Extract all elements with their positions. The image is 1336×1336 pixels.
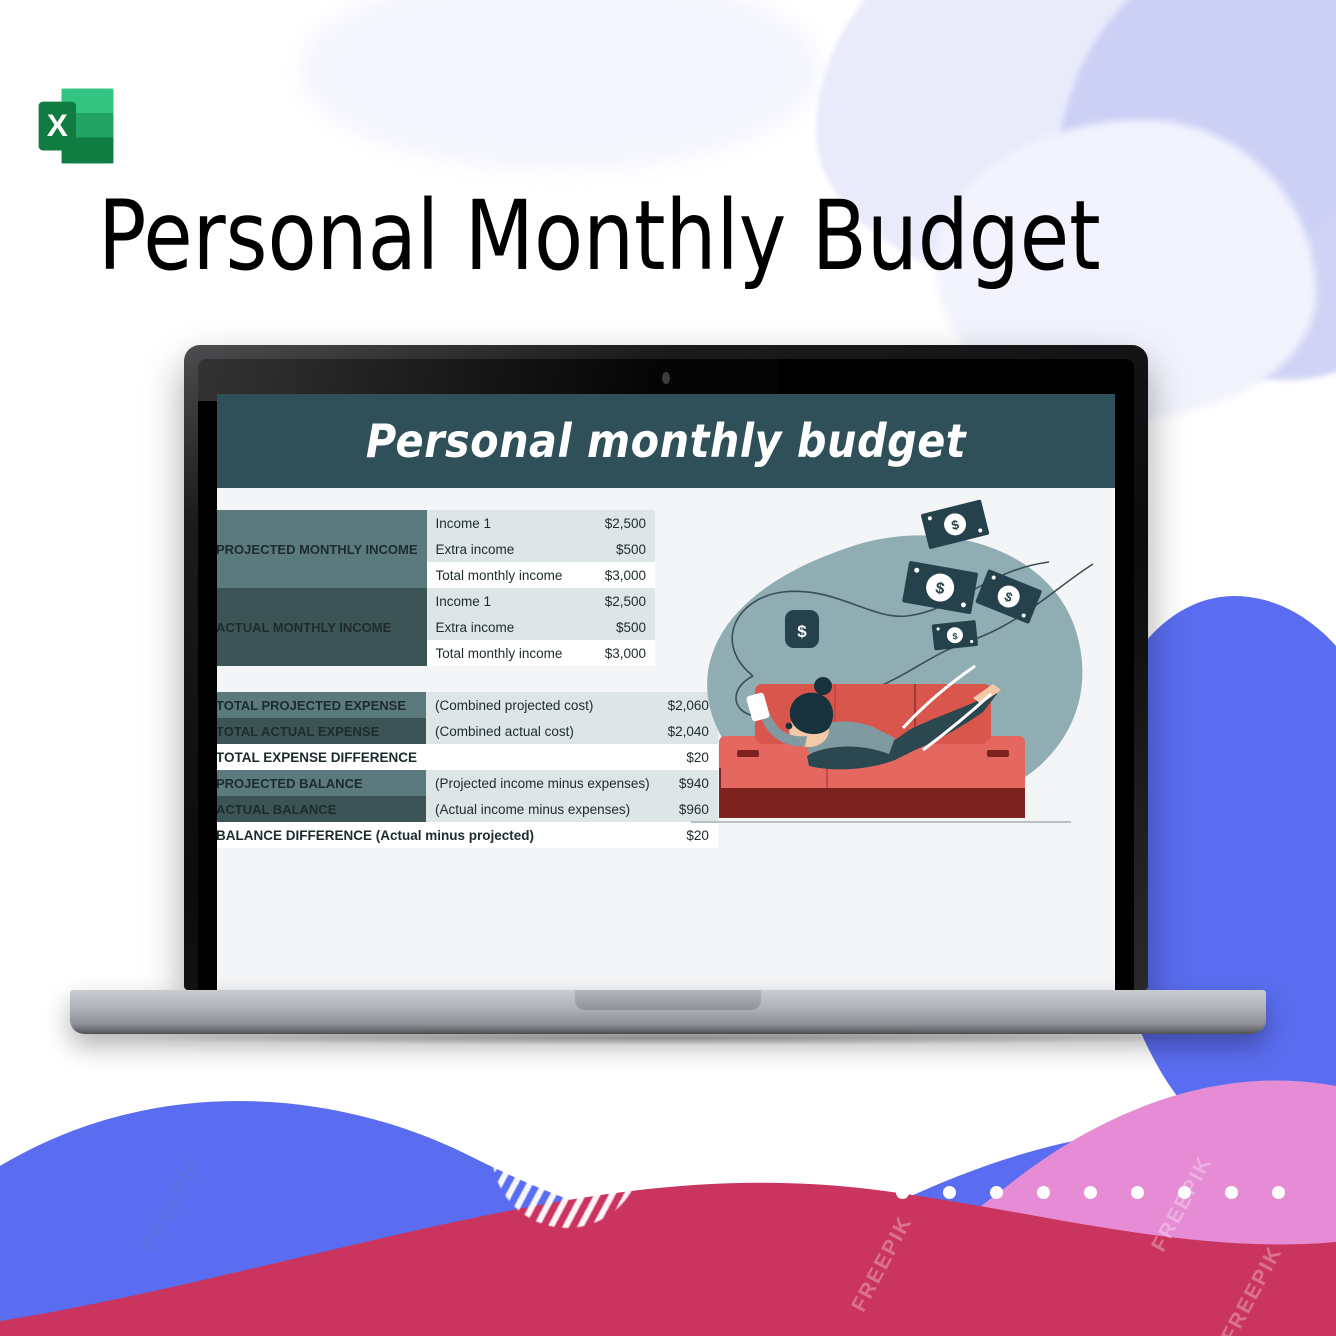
webcam-icon xyxy=(662,372,670,384)
summary-desc: (Combined projected cost) xyxy=(426,692,659,718)
table-row[interactable]: PROJECTED BALANCE (Projected income minu… xyxy=(217,770,718,796)
sheet-title: Personal monthly budget xyxy=(366,414,966,468)
income-table: PROJECTED MONTHLY INCOME Income 1 $2,500… xyxy=(217,510,655,692)
table-row[interactable]: ACTUAL BALANCE (Actual income minus expe… xyxy=(217,796,718,822)
table-row[interactable]: TOTAL EXPENSE DIFFERENCE $20 xyxy=(217,744,718,770)
lavender-blob-top xyxy=(300,0,820,170)
excel-icon: X xyxy=(30,80,122,172)
sheet-banner: Personal monthly budget xyxy=(217,394,1115,488)
svg-text:$: $ xyxy=(797,622,807,641)
laptop-screen: Personal monthly budget PROJECTED MONTHL… xyxy=(217,394,1115,990)
summary-table: TOTAL PROJECTED EXPENSE (Combined projec… xyxy=(217,692,718,848)
sheet-body: PROJECTED MONTHLY INCOME Income 1 $2,500… xyxy=(217,488,1115,990)
table-row[interactable]: TOTAL ACTUAL EXPENSE (Combined actual co… xyxy=(217,718,718,744)
laptop-mockup: Personal monthly budget PROJECTED MONTHL… xyxy=(0,345,1336,1045)
income-item: Income 1 xyxy=(427,588,589,614)
person-on-couch-with-money-illustration: $ $ xyxy=(657,488,1109,848)
projected-income-label: PROJECTED MONTHLY INCOME xyxy=(217,510,427,588)
illustration-pane: $ $ xyxy=(657,488,1109,848)
summary-label: TOTAL EXPENSE DIFFERENCE xyxy=(217,744,426,770)
summary-label: TOTAL PROJECTED EXPENSE xyxy=(217,692,426,718)
actual-income-label: ACTUAL MONTHLY INCOME xyxy=(217,588,427,666)
income-value: $500 xyxy=(589,614,655,640)
income-value: $2,500 xyxy=(589,588,655,614)
svg-text:X: X xyxy=(47,107,68,143)
budget-summary-pane: PROJECTED MONTHLY INCOME Income 1 $2,500… xyxy=(217,510,655,848)
table-row[interactable]: BALANCE DIFFERENCE (Actual minus project… xyxy=(217,822,718,848)
laptop-bezel: Personal monthly budget PROJECTED MONTHL… xyxy=(198,359,1134,990)
income-item: Extra income xyxy=(427,614,589,640)
svg-text:$: $ xyxy=(952,631,958,641)
summary-desc: (Projected income minus expenses) xyxy=(426,770,659,796)
page-title: Personal Monthly Budget xyxy=(98,188,1195,284)
laptop-base xyxy=(70,990,1266,1034)
hatched-circle xyxy=(492,1078,642,1228)
summary-desc xyxy=(426,744,659,770)
spacer-row xyxy=(217,666,655,692)
summary-label: BALANCE DIFFERENCE (Actual minus project… xyxy=(217,822,659,848)
summary-desc: (Actual income minus expenses) xyxy=(426,796,659,822)
summary-desc: (Combined actual cost) xyxy=(426,718,659,744)
income-value: $500 xyxy=(589,536,655,562)
summary-label: PROJECTED BALANCE xyxy=(217,770,426,796)
dot-grid xyxy=(879,1169,1302,1216)
table-row[interactable]: TOTAL PROJECTED EXPENSE (Combined projec… xyxy=(217,692,718,718)
income-value: $3,000 xyxy=(589,562,655,588)
income-item: Extra income xyxy=(427,536,589,562)
income-item: Total monthly income xyxy=(427,640,589,666)
laptop-lid: Personal monthly budget PROJECTED MONTHL… xyxy=(184,345,1148,990)
table-row[interactable]: ACTUAL MONTHLY INCOME Income 1 $2,500 xyxy=(217,588,655,614)
laptop-shadow xyxy=(120,1031,1216,1045)
income-value: $2,500 xyxy=(589,510,655,536)
summary-label: TOTAL ACTUAL EXPENSE xyxy=(217,718,426,744)
income-value: $3,000 xyxy=(589,640,655,666)
summary-label: ACTUAL BALANCE xyxy=(217,796,426,822)
income-item: Total monthly income xyxy=(427,562,589,588)
table-row[interactable]: PROJECTED MONTHLY INCOME Income 1 $2,500 xyxy=(217,510,655,536)
crimson-wave xyxy=(0,1116,1336,1336)
income-item: Income 1 xyxy=(427,510,589,536)
